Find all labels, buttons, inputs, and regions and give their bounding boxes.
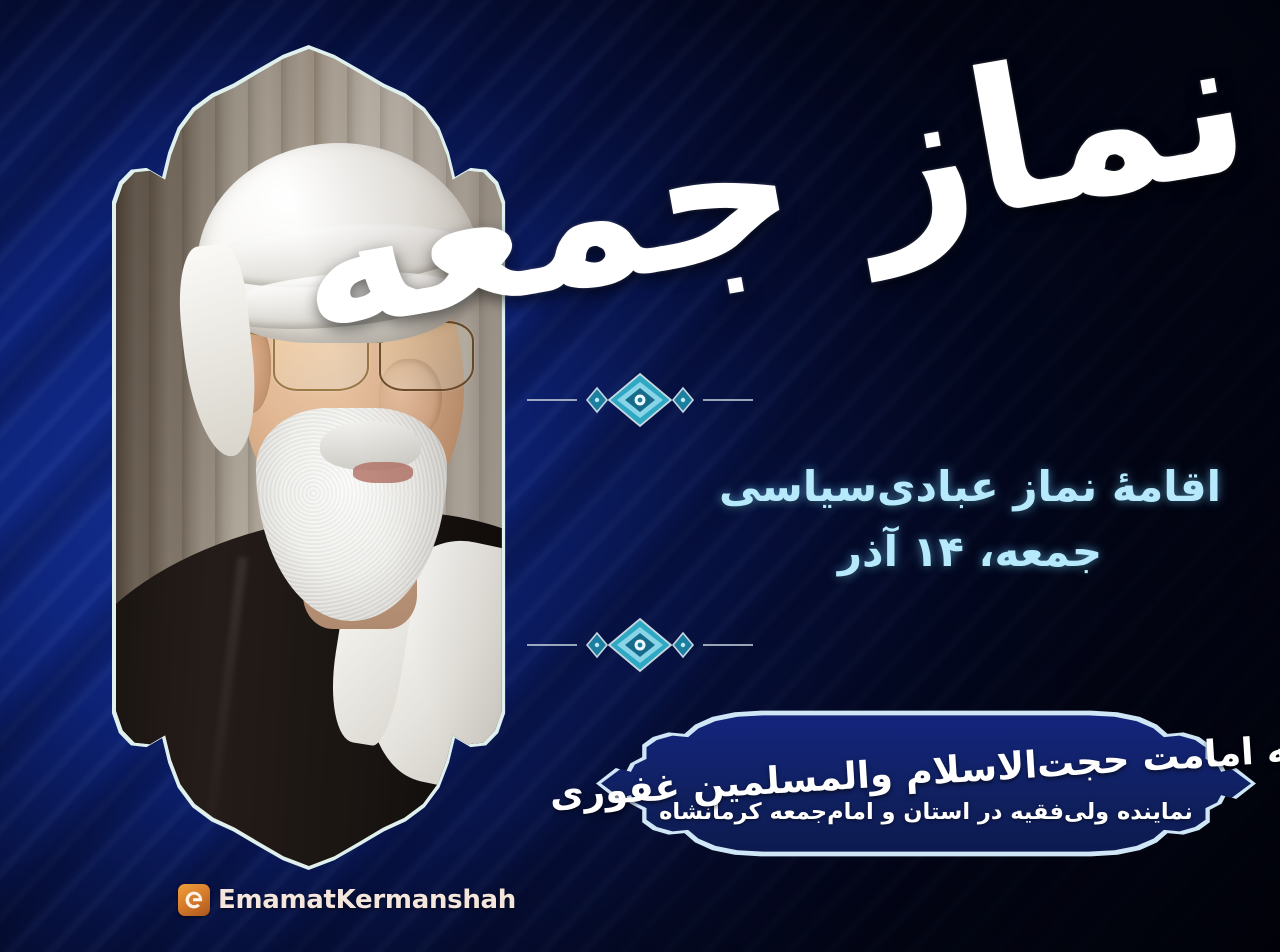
subtitle-block: اقامهٔ نماز عبادی‌سیاسی جمعه، ۱۴ آذر xyxy=(660,462,1280,576)
imam-banner: به امامت حجت‌الاسلام والمسلمین غفوری نما… xyxy=(596,706,1256,861)
subtitle-date: جمعه، ۱۴ آذر xyxy=(660,527,1280,576)
brand-logo-text: EmamatKermanshah xyxy=(218,885,516,915)
divider-ornament-top xyxy=(525,372,755,432)
subtitle-occasion: اقامهٔ نماز عبادی‌سیاسی xyxy=(660,462,1280,511)
divider-ornament-bottom xyxy=(525,617,755,677)
lip-shape xyxy=(353,462,412,483)
banner-text-group: به امامت حجت‌الاسلام والمسلمین غفوری نما… xyxy=(596,706,1256,861)
brand-logo[interactable]: EmamatKermanshah xyxy=(178,884,516,916)
poster-canvas: نماز جمعه xyxy=(0,0,1280,952)
e-logo-icon xyxy=(178,884,210,916)
